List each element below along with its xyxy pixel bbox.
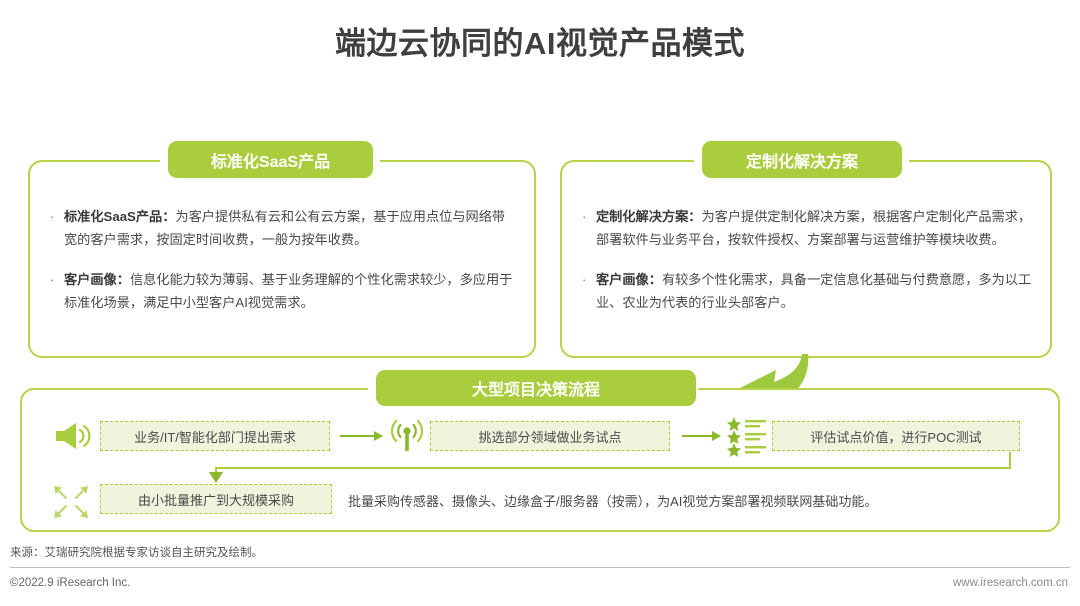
expand-arrows-icon — [50, 482, 92, 522]
flow-arrow-1 — [340, 435, 382, 437]
bullet-item: · 标准化SaaS产品：为客户提供私有云和公有云方案，基于应用点位与网络带宽的客… — [48, 206, 518, 251]
badge-label: 标准化SaaS产品 — [211, 148, 330, 172]
badge-custom-solution: 定制化解决方案 — [702, 141, 902, 178]
flow-step-4-box[interactable]: 由小批量推广到大规模采购 — [100, 484, 332, 514]
bullet-dot: · — [580, 269, 596, 291]
badge-large-project-flow: 大型项目决策流程 — [376, 370, 696, 406]
bullet-dot: · — [48, 206, 64, 228]
card-custom-solution-bullets: · 定制化解决方案：为客户提供定制化解决方案，根据客户定制化产品需求，部署软件与… — [580, 206, 1034, 333]
bullet-body: 有较多个性化需求，具备一定信息化基础与付费意愿，多为以工业、农业为代表的行业头部… — [596, 272, 1031, 310]
badge-label: 定制化解决方案 — [746, 148, 858, 172]
flow-step-3-label: 评估试点价值，进行POC测试 — [810, 427, 981, 446]
flow-elbow-connector — [205, 450, 1015, 484]
infographic-page: 端边云协同的AI视觉产品模式 · 标准化SaaS产品：为客户提供私有云和公有云方… — [0, 0, 1080, 606]
broadcast-signal-icon — [390, 418, 424, 454]
flow-final-note: 批量采购传感器、摄像头、边缘盒子/服务器（按需），为AI视觉方案部署视频联网基础… — [348, 491, 877, 510]
source-note: 来源：艾瑞研究院根据专家访谈自主研究及绘制。 — [10, 544, 263, 560]
bullet-item: · 客户画像：信息化能力较为薄弱、基于业务理解的个性化需求较少，多应用于标准化场… — [48, 269, 518, 314]
badge-label: 大型项目决策流程 — [472, 376, 600, 400]
bullet-dot: · — [580, 206, 596, 228]
flow-step-1-label: 业务/IT/智能化部门提出需求 — [134, 427, 296, 446]
bullet-item: · 定制化解决方案：为客户提供定制化解决方案，根据客户定制化产品需求，部署软件与… — [580, 206, 1034, 251]
website-url: www.iresearch.com.cn — [953, 577, 1068, 589]
flow-step-3-box[interactable]: 评估试点价值，进行POC测试 — [772, 421, 1020, 451]
bullet-lead: 客户画像： — [596, 272, 662, 287]
bullet-item: · 客户画像：有较多个性化需求，具备一定信息化基础与付费意愿，多为以工业、农业为… — [580, 269, 1034, 314]
card-standard-saas-bullets: · 标准化SaaS产品：为客户提供私有云和公有云方案，基于应用点位与网络带宽的客… — [48, 206, 518, 333]
bullet-dot: · — [48, 269, 64, 291]
card-standard-saas: · 标准化SaaS产品：为客户提供私有云和公有云方案，基于应用点位与网络带宽的客… — [28, 160, 536, 358]
footer-divider — [10, 567, 1070, 568]
card-custom-solution: · 定制化解决方案：为客户提供定制化解决方案，根据客户定制化产品需求，部署软件与… — [560, 160, 1052, 358]
megaphone-icon — [52, 421, 92, 451]
flow-step-4-label: 由小批量推广到大规模采购 — [138, 490, 294, 509]
flow-step-2-box[interactable]: 挑选部分领域做业务试点 — [430, 421, 670, 451]
page-title: 端边云协同的AI视觉产品模式 — [0, 18, 1080, 63]
bullet-lead: 客户画像： — [64, 272, 130, 287]
flow-arrow-2 — [682, 435, 720, 437]
copyright-text: ©2022.9 iResearch Inc. — [10, 577, 130, 589]
flow-step-1-box[interactable]: 业务/IT/智能化部门提出需求 — [100, 421, 330, 451]
badge-standard-saas: 标准化SaaS产品 — [168, 141, 373, 178]
bullet-lead: 标准化SaaS产品： — [64, 209, 175, 224]
bullet-lead: 定制化解决方案： — [596, 209, 702, 224]
flow-step-2-label: 挑选部分领域做业务试点 — [478, 427, 621, 446]
bullet-body: 信息化能力较为薄弱、基于业务理解的个性化需求较少，多应用于标准化场景，满足中小型… — [64, 272, 512, 310]
